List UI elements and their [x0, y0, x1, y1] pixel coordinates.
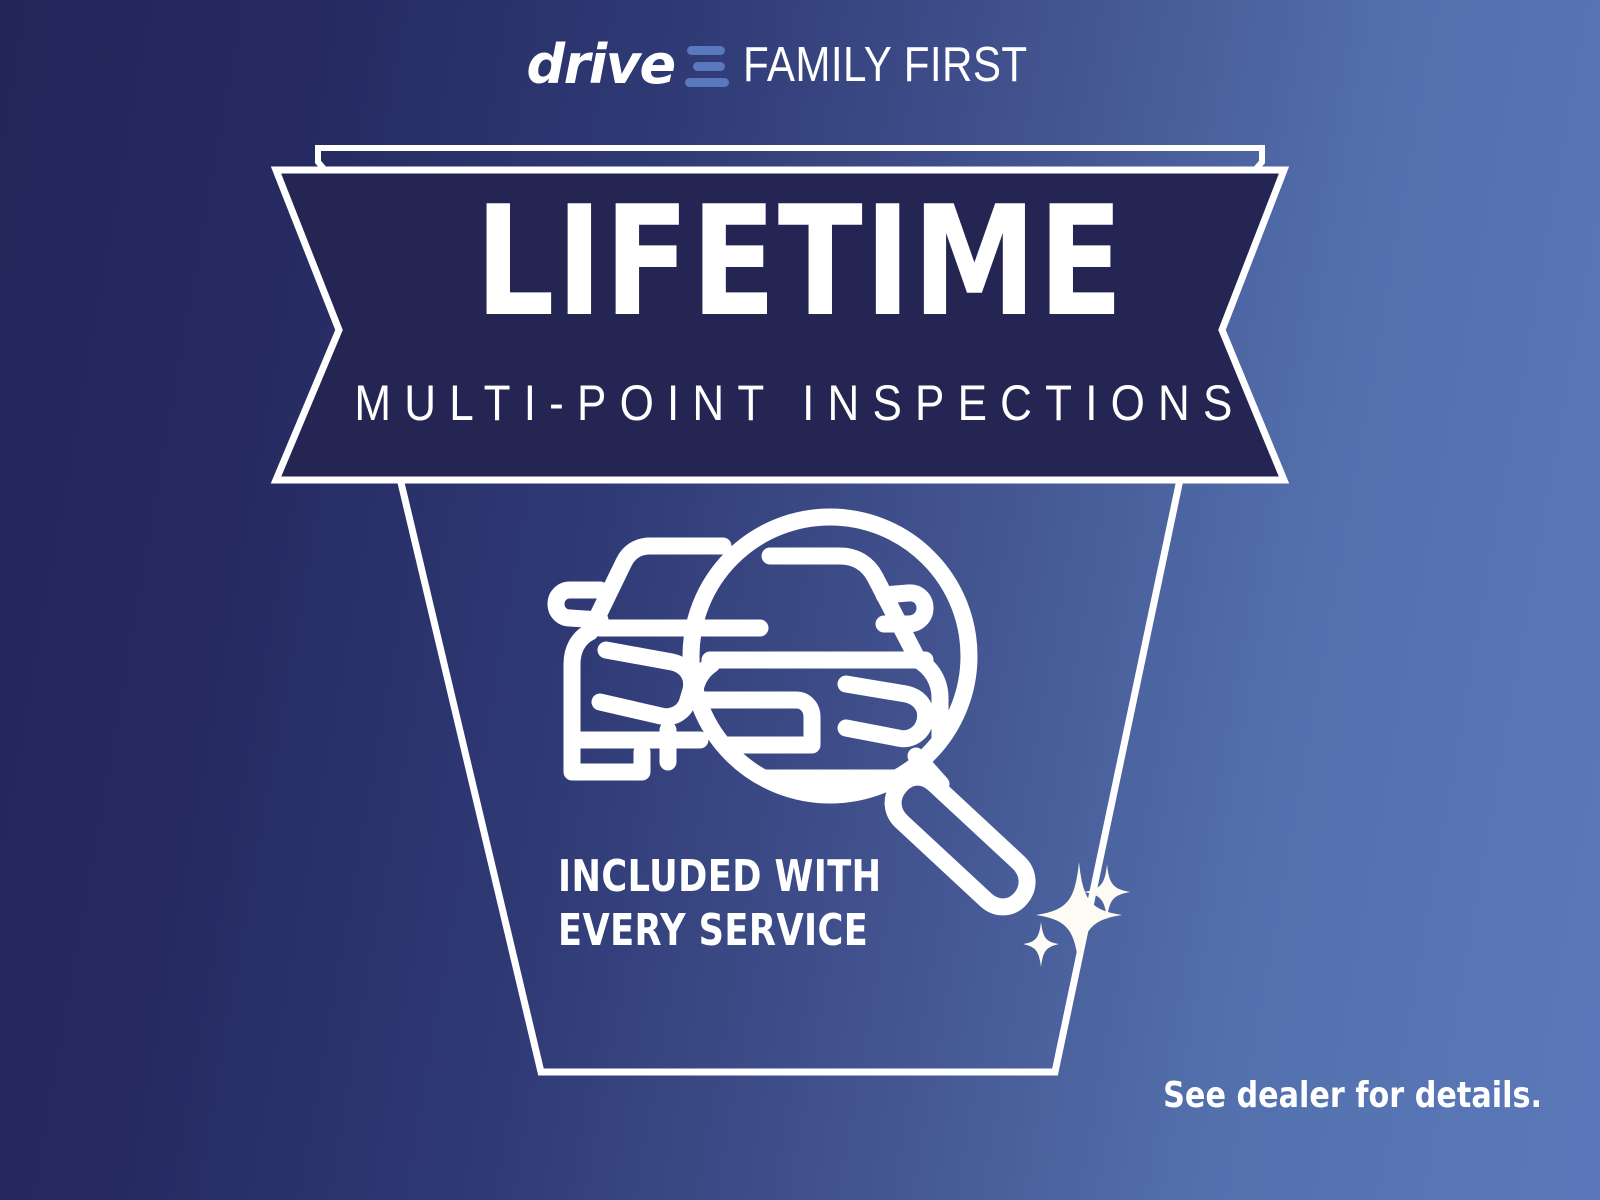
brand-wordmark: drive [526, 38, 674, 92]
three-bars-icon [685, 46, 729, 87]
magnifier-handle [893, 777, 1027, 907]
caption-line-1: INCLUDED WITH [558, 850, 881, 904]
banner-title: LIFETIME [144, 186, 1456, 338]
caption-line-2: EVERY SERVICE [558, 904, 881, 958]
car-with-magnifying-glass-icon [556, 517, 1027, 907]
banner-subtitle: MULTI-POINT INSPECTIONS [96, 378, 1504, 428]
brand-tagline: FAMILY FIRST [743, 41, 1028, 90]
promo-poster: drive FAMILY FIRST [0, 0, 1600, 1200]
shield-outline [398, 470, 1182, 1072]
included-caption: INCLUDED WITH EVERY SERVICE [558, 850, 881, 957]
magnifier-lens [691, 517, 969, 795]
sparkle-icon [1023, 862, 1130, 968]
disclaimer-text: See dealer for details. [1163, 1078, 1542, 1114]
brand-lockup: drive FAMILY FIRST [0, 30, 1600, 100]
